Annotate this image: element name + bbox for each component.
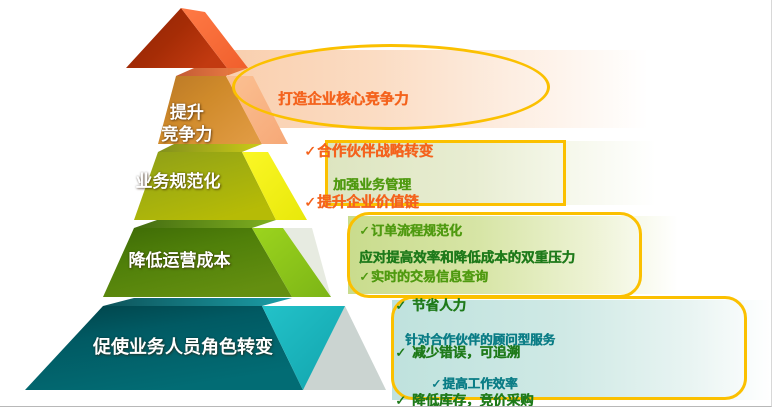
pyramid-apex (126, 8, 248, 68)
tier-label-cost: 降低运营成本 (72, 251, 287, 272)
check-icon: ✓ (304, 144, 316, 160)
callout-heading-role: 针对合作伙伴的顾问型服务 (405, 333, 655, 348)
tier-label-competitiveness: 提升 竞争力 (120, 82, 230, 167)
tier-label-competitiveness-line1: 提升 (170, 103, 204, 123)
callout-heading-competitiveness: 打造企业核心竞争力 (278, 92, 433, 109)
callout-heading-standardization: 加强业务管理 (333, 178, 488, 193)
callout-heading-cost: 应对提高效率和降低成本的双重压力 (359, 251, 575, 267)
tier-cost-top-face (134, 220, 276, 228)
tier-label-competitiveness-line2: 竞争力 (161, 125, 212, 145)
tier-label-standardization: 业务规范化 (88, 172, 268, 193)
tier-role-top-face (103, 298, 292, 306)
callout-item-label: 提高工作效率 (442, 376, 517, 391)
slide-canvas: 提升 竞争力 业务规范化 降低运营成本 促使业务人员角色转变 打造企业核心竞争力… (0, 0, 772, 407)
tier-label-role: 促使业务人员角色转变 (48, 337, 318, 360)
check-icon: ✓ (431, 376, 441, 391)
check-icon: ✓ (304, 195, 316, 211)
callout-item: ✓提高工作效率 (405, 377, 655, 392)
callout-text-role: 针对合作伙伴的顾问型服务 ✓提高工作效率 ✓将业务人员从复杂、重复的劳动中解放 … (405, 303, 655, 407)
